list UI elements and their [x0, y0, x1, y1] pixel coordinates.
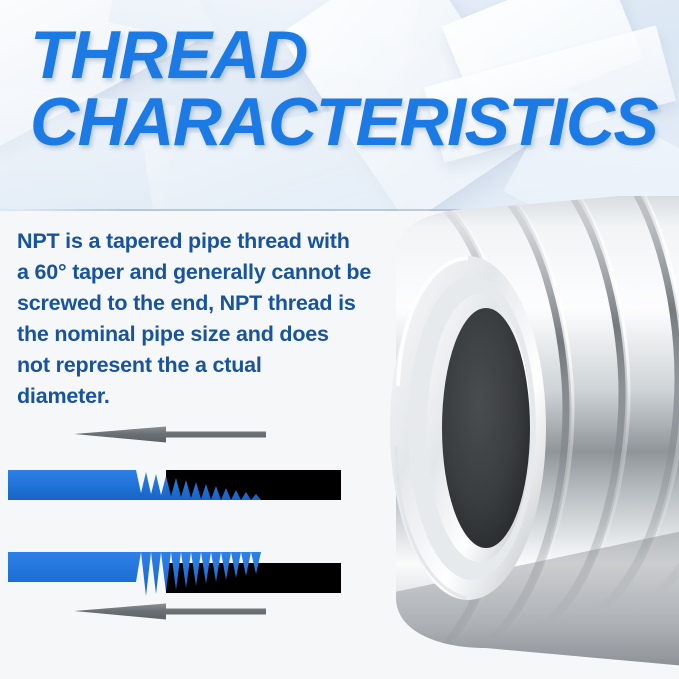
arrow-right-icon — [74, 604, 266, 620]
thread-engagement-diagram — [0, 415, 360, 645]
description-line: diameter. — [17, 381, 387, 412]
description-line: the nominal pipe size and does — [17, 319, 387, 350]
pipe-end-face — [390, 256, 546, 600]
thread-assembly-top — [8, 470, 341, 500]
description-line: not represent the a ctual — [17, 350, 387, 381]
description-line: screwed to the end, NPT thread is — [17, 288, 387, 319]
description-line: NPT is a tapered pipe thread with — [17, 226, 387, 257]
description-paragraph: NPT is a tapered pipe thread with a 60° … — [17, 226, 387, 412]
thread-assembly-bottom — [8, 552, 341, 596]
description-line: a 60° taper and generally cannot be — [17, 257, 387, 288]
page-title: THREAD CHARACTERISTICS — [30, 22, 679, 157]
title-line-1: THREAD — [30, 17, 307, 93]
infographic-canvas: THREAD CHARACTERISTICS NPT is a tapered … — [0, 0, 679, 679]
pipe-bore — [442, 308, 530, 548]
black-bar-bottom — [166, 563, 341, 593]
pipe-photo — [336, 196, 679, 666]
title-line-2: CHARACTERISTICS — [30, 89, 679, 156]
arrow-left-icon — [74, 427, 266, 443]
header-banner: THREAD CHARACTERISTICS — [0, 0, 679, 211]
